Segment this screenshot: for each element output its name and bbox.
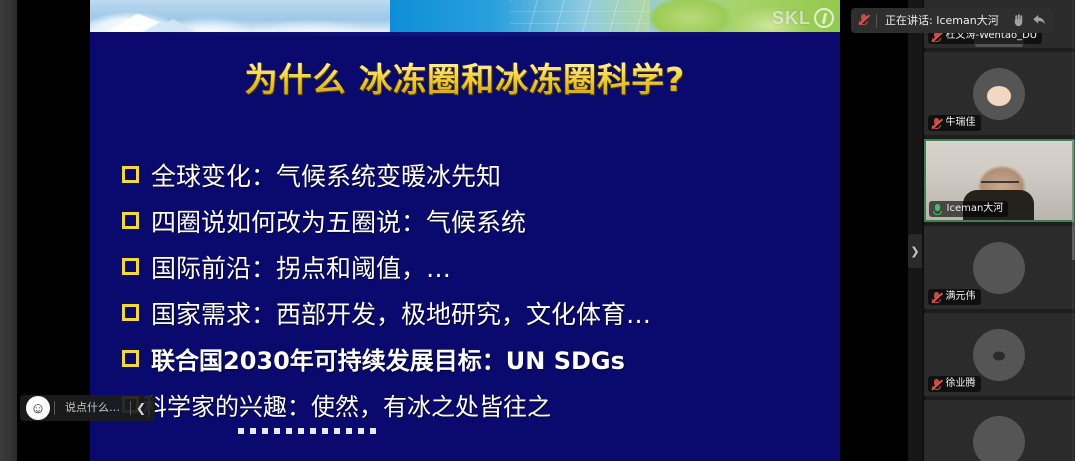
dot	[370, 428, 376, 434]
participant-tile[interactable]: 牛瑞佳	[924, 52, 1074, 135]
list-item: 科学家的兴趣：使然，有冰之处皆往之	[122, 388, 834, 426]
list-item-label: 国家需求：西部开发，极地研究，文化体育…	[151, 296, 651, 334]
list-item-label: 全球变化：气候系统变暖冰先知	[151, 158, 501, 196]
list-item: 联合国2030年可持续发展目标：UN SDGs	[122, 342, 834, 380]
square-bullet-icon	[122, 258, 139, 275]
square-bullet-icon	[122, 166, 139, 183]
emoji-smile-icon[interactable]: ☺	[26, 396, 50, 420]
avatar	[973, 416, 1025, 461]
participant-name: 徐业腾	[946, 377, 976, 391]
square-bullet-icon	[122, 350, 139, 367]
logo-text: SKL	[772, 4, 811, 32]
participant-tile[interactable]: 满元伟	[924, 226, 1074, 309]
list-item-label: 国际前沿：拐点和阈值，…	[151, 250, 451, 288]
dot	[262, 428, 268, 434]
conference-window: SKL 为什么 冰冻圈和冰冻圈科学? 全球变化：气候系统变暖冰先知 四圈说如何改…	[0, 0, 1075, 461]
participant-namebar: 牛瑞佳	[928, 115, 981, 131]
dot	[286, 428, 292, 434]
banner-underline	[90, 32, 840, 36]
mic-muted-icon	[931, 378, 942, 391]
sklo-logo: SKL	[772, 4, 834, 32]
slide-header-banner: SKL	[90, 0, 840, 36]
dot	[358, 428, 364, 434]
panel-collapse-handle[interactable]: ❯	[908, 234, 922, 268]
shared-screen-stage[interactable]: SKL 为什么 冰冻圈和冰冻圈科学? 全球变化：气候系统变暖冰先知 四圈说如何改…	[17, 0, 908, 461]
participant-namebar: Iceman大河	[929, 201, 1009, 217]
glasses-detail	[981, 181, 1019, 188]
banner-divider	[876, 14, 877, 28]
slide-bullet-list: 全球变化：气候系统变暖冰先知 四圈说如何改为五圈说：气候系统 国际前沿：拐点和阈…	[122, 158, 834, 434]
participant-name: 满元伟	[946, 290, 976, 304]
mic-muted-icon	[931, 117, 942, 130]
list-item-label: 四圈说如何改为五圈说：气候系统	[151, 204, 526, 242]
list-item: 四圈说如何改为五圈说：气候系统	[122, 204, 834, 242]
participant-namebar: 徐业腾	[928, 376, 981, 392]
chevron-left-icon[interactable]: ❮	[131, 395, 153, 421]
participant-tile-active-speaker[interactable]: Iceman大河	[924, 139, 1074, 222]
slide-title: 为什么 冰冻圈和冰冻圈科学?	[90, 60, 840, 100]
dot	[298, 428, 304, 434]
chevron-right-icon: ❯	[910, 245, 919, 258]
participant-name: Iceman大河	[947, 202, 1004, 216]
left-toolbar-rail	[0, 0, 17, 461]
participant-tile[interactable]: 徐业腾	[924, 313, 1074, 396]
list-item-label: 联合国2030年可持续发展目标：UN SDGs	[151, 342, 625, 380]
chat-composer[interactable]: ☺ 说点什么… ❮	[20, 395, 155, 421]
dot	[310, 428, 316, 434]
dot	[238, 428, 244, 434]
avatar	[973, 68, 1025, 120]
mountain-photo	[90, 0, 390, 36]
active-speaker-label: 正在讲话: Iceman大河	[885, 8, 999, 33]
raise-hand-icon[interactable]	[1011, 13, 1026, 28]
participant-strip[interactable]: 杜文涛-Wentao_DU 牛瑞佳 Iceman大河 满元伟	[922, 0, 1075, 461]
logo-ring-icon	[814, 8, 834, 28]
list-item-label: 科学家的兴趣：使然，有冰之处皆往之	[143, 388, 551, 426]
dot	[274, 428, 280, 434]
list-item: 国家需求：西部开发，极地研究，文化体育…	[122, 296, 834, 334]
square-bullet-icon	[122, 304, 139, 321]
presentation-slide: SKL 为什么 冰冻圈和冰冻圈科学? 全球变化：气候系统变暖冰先知 四圈说如何改…	[90, 0, 840, 461]
participant-name: 牛瑞佳	[946, 116, 976, 130]
trailing-dots	[238, 428, 376, 434]
chat-input[interactable]: 说点什么…	[55, 395, 130, 421]
avatar	[973, 329, 1025, 381]
participant-tile[interactable]	[924, 400, 1074, 461]
list-item: 国际前沿：拐点和阈值，…	[122, 250, 834, 288]
participant-namebar: 满元伟	[928, 289, 981, 305]
banner-action-icons[interactable]	[1011, 13, 1047, 28]
dot	[250, 428, 256, 434]
active-speaker-banner: 正在讲话: Iceman大河	[851, 8, 1053, 33]
avatar	[973, 242, 1025, 294]
reply-arrow-icon[interactable]	[1032, 13, 1047, 28]
square-bullet-icon	[122, 212, 139, 229]
mic-muted-icon	[858, 13, 871, 28]
list-item: 全球变化：气候系统变暖冰先知	[122, 158, 834, 196]
dot	[334, 428, 340, 434]
mic-on-icon	[932, 203, 943, 216]
dot	[346, 428, 352, 434]
dot	[322, 428, 328, 434]
mic-muted-icon	[931, 291, 942, 304]
left-rail-surface	[0, 0, 17, 461]
